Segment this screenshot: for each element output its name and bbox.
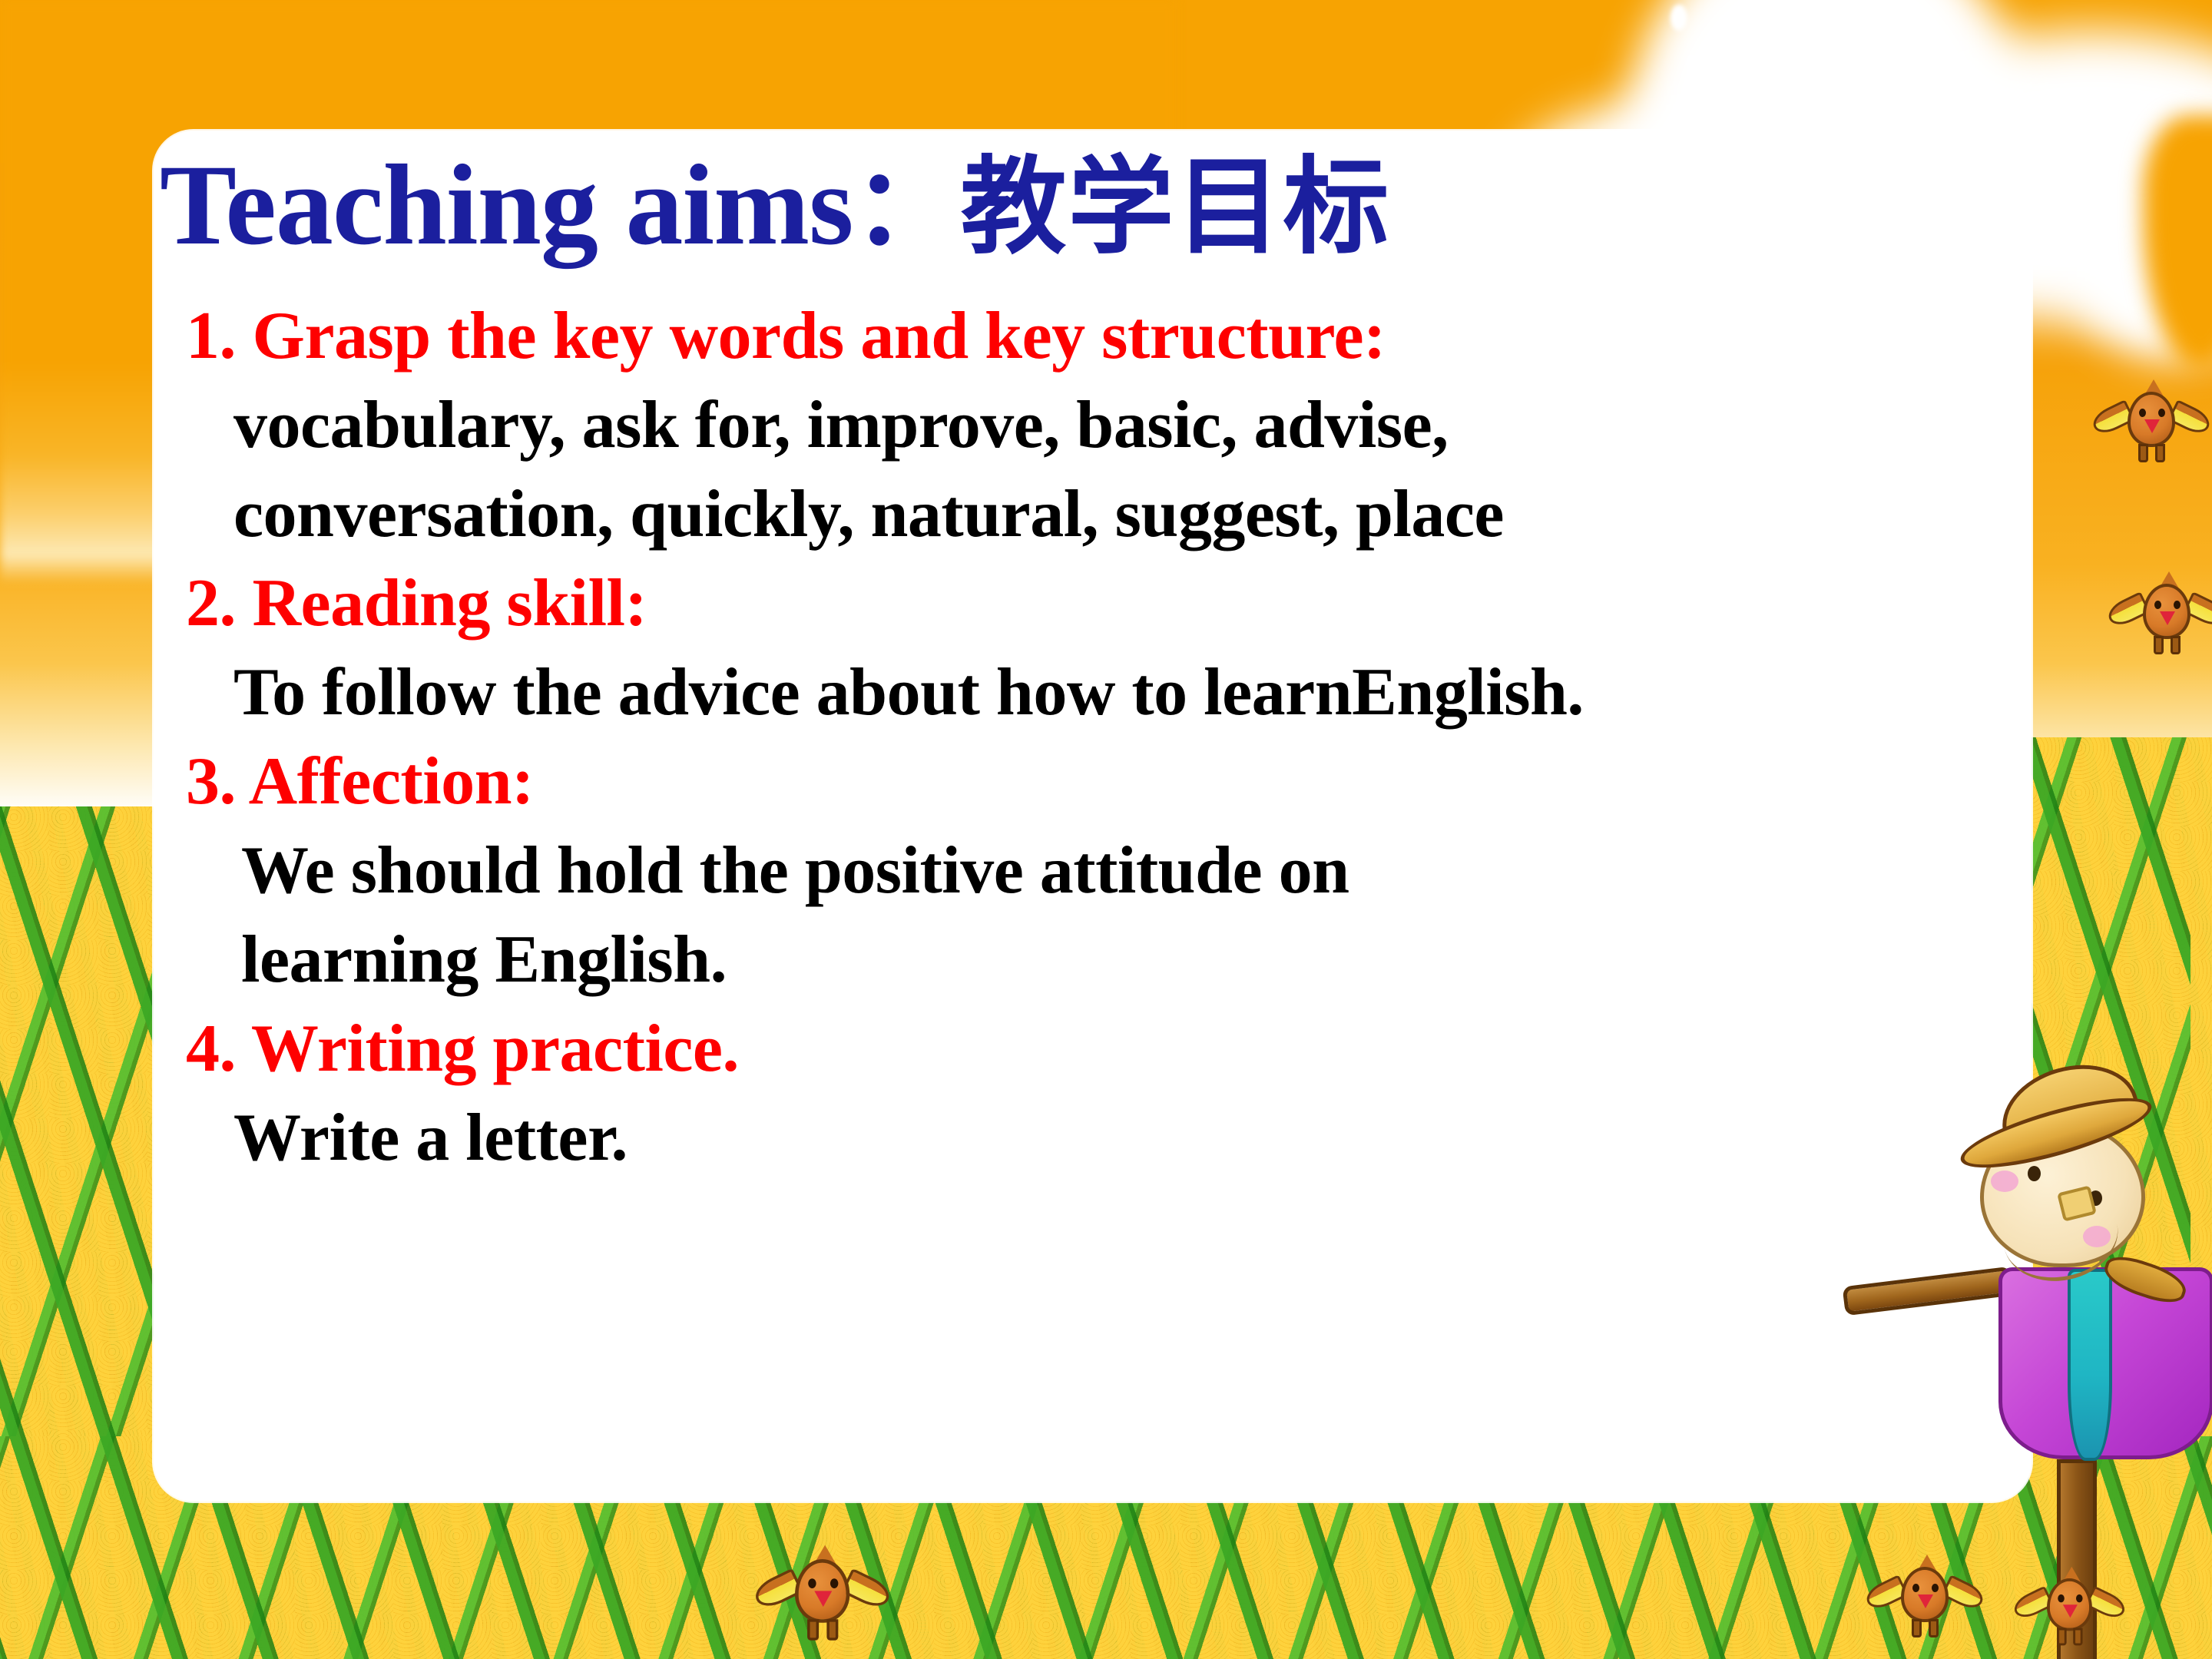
bird-eye (808, 1578, 816, 1588)
bird-eye (1932, 1584, 1939, 1592)
list-item: Write a letter. (186, 1094, 2014, 1183)
scarecrow-eye (2028, 1166, 2041, 1181)
page-title-chinese: 教学目标 (960, 145, 1390, 269)
bird-eye (2158, 409, 2165, 417)
bird-leg (1912, 1619, 1922, 1637)
bird-leg (2073, 1628, 2082, 1646)
bird-eye (2058, 1594, 2065, 1602)
sparkle-dot (1727, 28, 1736, 40)
card-inner: Teaching aims：教学目标 1. Grasp the key word… (154, 131, 2032, 1502)
list-item: To follow the advice about how to learnE… (186, 648, 2014, 737)
bird-beak (2063, 1604, 2078, 1618)
bird-eye (2076, 1594, 2083, 1602)
list-item: 1. Grasp the key words and key structure… (186, 292, 2014, 381)
bird-leg (2138, 444, 2148, 462)
bird-eye (2174, 601, 2181, 609)
scarecrow-cheek (1991, 1171, 2018, 1192)
page-title-english: Teaching aims (160, 141, 853, 269)
bird-beak (814, 1591, 832, 1607)
list-item: conversation, quickly, natural, suggest,… (186, 470, 2014, 559)
bird-beak (1918, 1594, 1933, 1608)
list-item: We should hold the positive attitude on (186, 826, 2014, 916)
bird-eye (2139, 409, 2146, 417)
bird-leg (2155, 444, 2165, 462)
list-item: vocabulary, ask for, improve, basic, adv… (186, 381, 2014, 470)
scarecrow-scarf (2068, 1269, 2112, 1461)
bird-eye (830, 1578, 838, 1588)
page-title-colon: ： (853, 145, 960, 269)
sparkle-dot (1671, 5, 1687, 31)
bird-leg (2171, 636, 2181, 654)
bird-leg (1929, 1619, 1939, 1637)
list-item: 4. Writing practice. (186, 1005, 2014, 1094)
bird-leg (2057, 1628, 2066, 1646)
bird-beak (2160, 611, 2175, 625)
list-item: 2. Reading skill: (186, 559, 2014, 648)
list-item: learning English. (186, 916, 2014, 1005)
bird-leg (807, 1619, 819, 1641)
bird-leg (2154, 636, 2164, 654)
aims-list: 1. Grasp the key words and key structure… (186, 292, 2014, 1183)
presentation-slide: Teaching aims：教学目标 1. Grasp the key word… (0, 0, 2212, 1659)
scarecrow-cheek (2083, 1226, 2111, 1247)
list-item: 3. Affection: (186, 737, 2014, 826)
bird-beak (2144, 419, 2160, 433)
bird-eye (1912, 1584, 1919, 1592)
page-title: Teaching aims：教学目标 (160, 147, 1391, 263)
content-card: Teaching aims：教学目标 1. Grasp the key word… (154, 131, 2032, 1502)
bird-eye (2154, 601, 2161, 609)
sparkle-dot (1686, 54, 1700, 74)
bird-leg (826, 1619, 838, 1641)
